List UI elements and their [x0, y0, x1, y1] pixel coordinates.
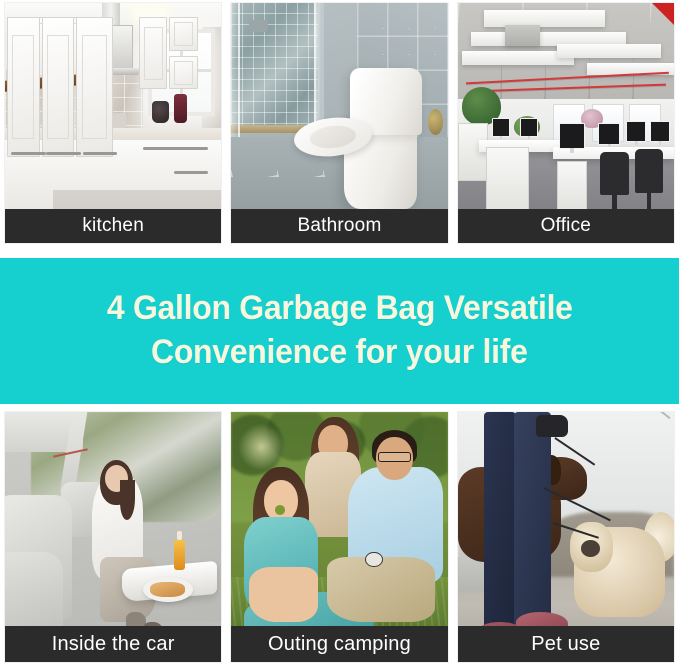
office-chair: [600, 152, 628, 195]
photo-cell-bathroom[interactable]: Bathroom: [231, 3, 447, 243]
leash-handle: [536, 415, 568, 438]
caption-outing-camping: Outing camping: [231, 626, 447, 662]
photo-cell-outing-camping[interactable]: Outing camping: [231, 412, 447, 662]
pet-photo: [458, 412, 674, 662]
office-photo: [458, 3, 674, 243]
bathroom-photo: [231, 3, 447, 243]
car-interior-photo: [5, 412, 221, 662]
juice-bottle-icon: [174, 540, 185, 570]
caption-office: Office: [458, 209, 674, 243]
eyeglasses-icon: [378, 452, 410, 462]
photo-cell-kitchen[interactable]: kitchen: [5, 3, 221, 243]
photo-cell-office[interactable]: Office: [458, 3, 674, 243]
kitchen-photo: [5, 3, 221, 243]
red-corner-accent: [652, 3, 674, 25]
caption-inside-the-car: Inside the car: [5, 626, 221, 662]
shower-head-icon: [249, 20, 268, 32]
headline-line-1: 4 Gallon Garbage Bag Versatile: [107, 287, 573, 331]
wristwatch-icon: [365, 552, 382, 567]
photo-cell-inside-the-car[interactable]: Inside the car: [5, 412, 221, 662]
bottom-photo-row: Inside the car: [0, 412, 679, 662]
caption-bathroom: Bathroom: [231, 209, 447, 243]
caption-pet-use: Pet use: [458, 626, 674, 662]
product-collage-poster: kitchen Bathroom: [0, 0, 679, 665]
caption-kitchen: kitchen: [5, 209, 221, 243]
headline-line-2: Convenience for your life: [151, 331, 528, 375]
top-photo-row: kitchen Bathroom: [0, 3, 679, 243]
photo-cell-pet-use[interactable]: Pet use: [458, 412, 674, 662]
headline-banner: 4 Gallon Garbage Bag Versatile Convenien…: [0, 258, 679, 404]
camping-photo: [231, 412, 447, 662]
